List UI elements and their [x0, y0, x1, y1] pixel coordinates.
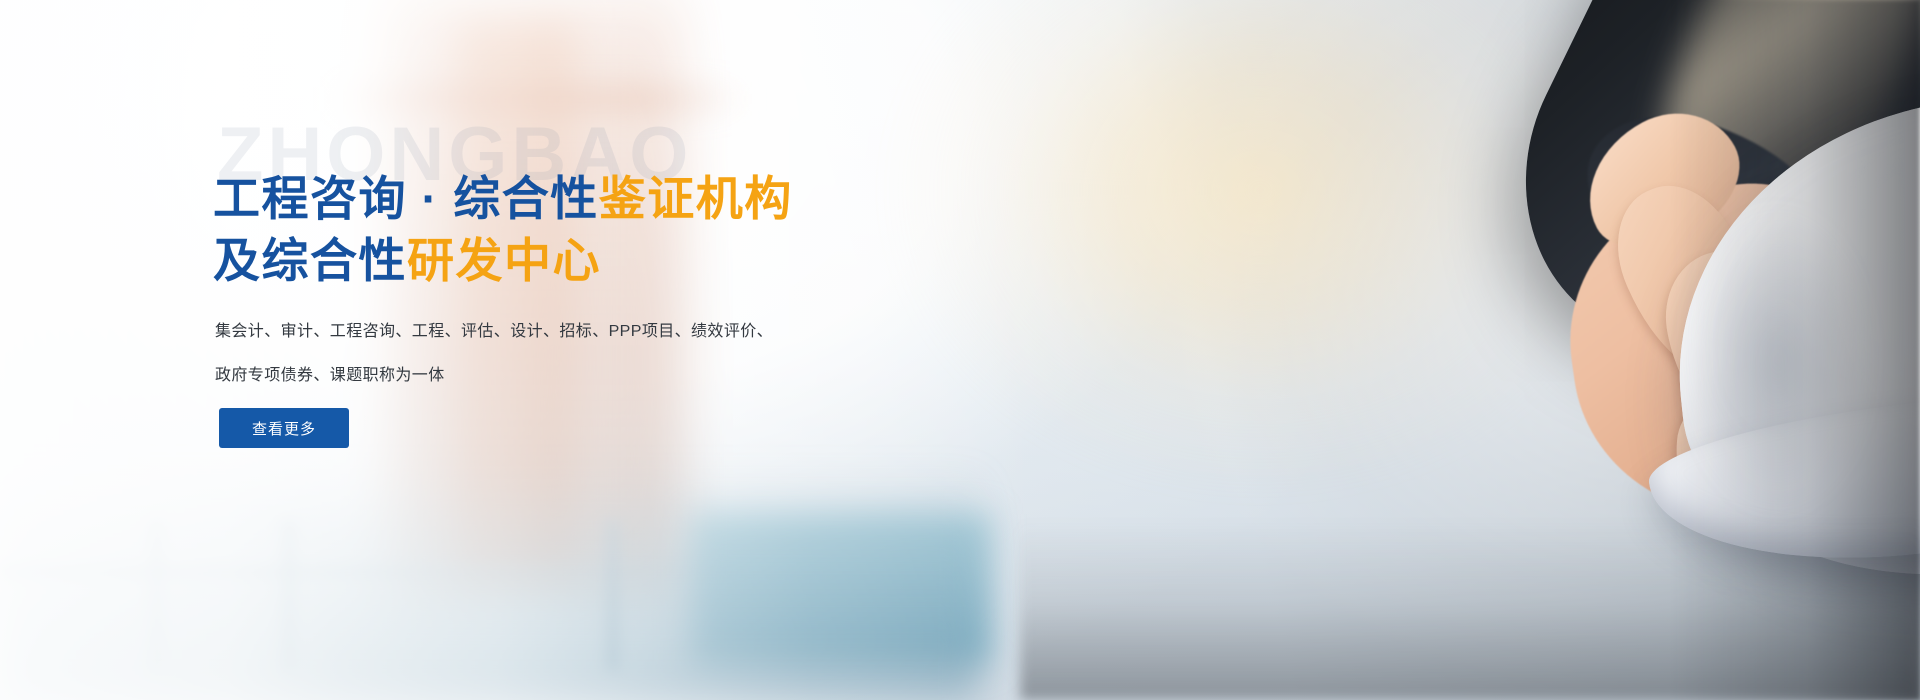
hand-holding-helmet-photo: 中 宝 工 程 管 理: [830, 0, 1920, 700]
hero-description: 集会计、审计、工程咨询、工程、评估、设计、招标、PPP项目、绩效评价、 政府专项…: [215, 310, 815, 398]
headline-line-1: 工程咨询 · 综合性鉴证机构: [213, 168, 793, 230]
headline-line-2-accent: 研发中心: [407, 234, 601, 287]
headline-line-1-primary: 工程咨询 · 综合性: [213, 172, 599, 225]
description-line-1: 集会计、审计、工程咨询、工程、评估、设计、招标、PPP项目、绩效评价、: [215, 310, 815, 354]
description-line-2: 政府专项债券、课题职称为一体: [215, 354, 815, 398]
headline-line-2: 及综合性研发中心: [213, 230, 793, 292]
hero-banner: 中 宝 工 程 管 理 ZHONGBAO 工程咨询 · 综合性鉴证机构 及综合性…: [0, 0, 1920, 700]
hero-content: ZHONGBAO 工程咨询 · 综合性鉴证机构 及综合性研发中心 集会计、审计、…: [213, 0, 973, 700]
headline-line-1-accent: 鉴证机构: [599, 172, 793, 225]
hero-headline: 工程咨询 · 综合性鉴证机构 及综合性研发中心: [213, 168, 793, 292]
view-more-button[interactable]: 查看更多: [219, 408, 349, 448]
headline-line-2-primary: 及综合性: [213, 234, 407, 287]
bottom-vignette: [1020, 520, 1920, 700]
